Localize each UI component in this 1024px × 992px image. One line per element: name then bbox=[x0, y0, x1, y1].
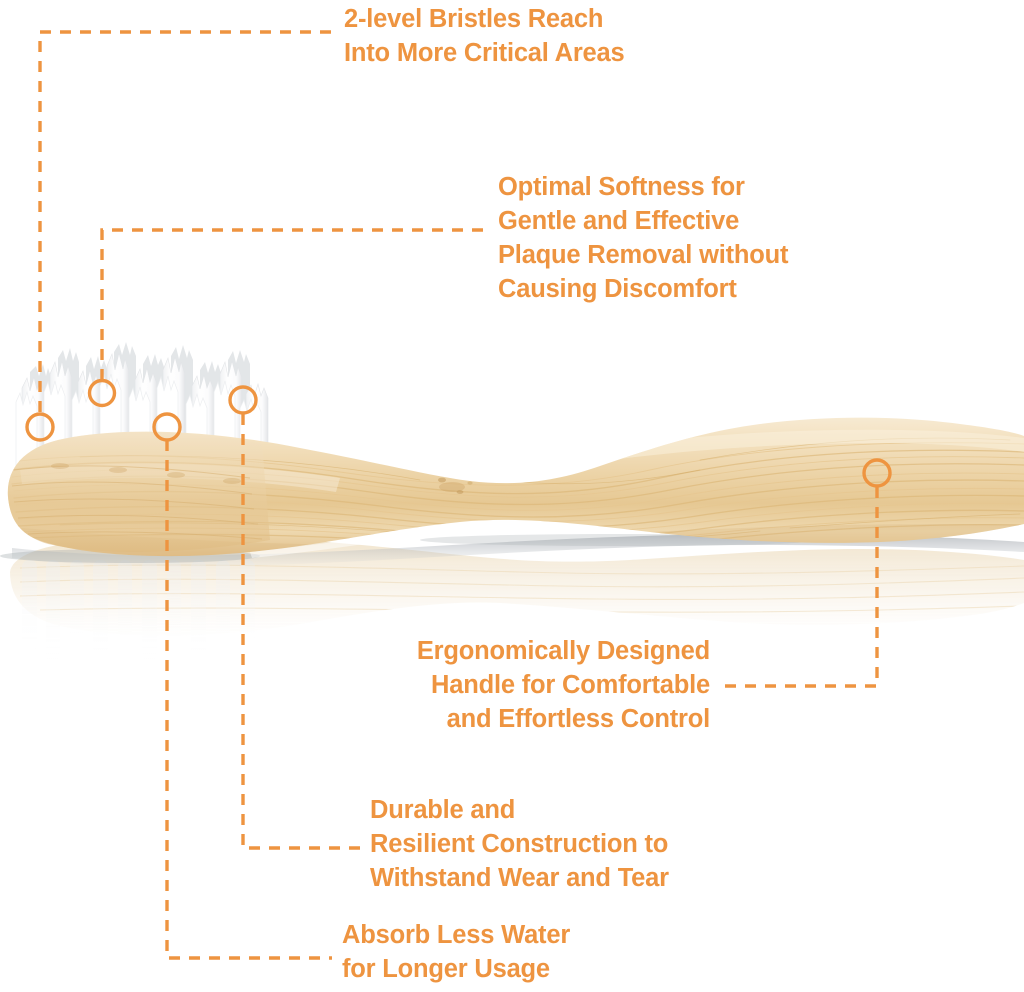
circle-marker-bristle-3[interactable] bbox=[154, 414, 180, 440]
leader-line-bristles bbox=[40, 32, 340, 412]
callout-label-bristles: 2-level Bristles Reach Into More Critica… bbox=[344, 2, 744, 70]
callout-label-ergonomic: Ergonomically Designed Handle for Comfor… bbox=[320, 634, 710, 736]
leader-line-durable bbox=[243, 414, 368, 848]
callout-label-absorb: Absorb Less Water for Longer Usage bbox=[342, 918, 702, 986]
leader-line-ergonomic bbox=[722, 487, 877, 686]
circle-marker-handle[interactable] bbox=[864, 460, 890, 486]
leader-line-softness bbox=[102, 230, 492, 380]
callout-label-softness: Optimal Softness for Gentle and Effectiv… bbox=[498, 170, 918, 306]
circle-marker-bristle-2[interactable] bbox=[90, 381, 115, 406]
circle-marker-bristle-1[interactable] bbox=[27, 414, 53, 440]
circle-marker-bristle-4[interactable] bbox=[230, 387, 256, 413]
callout-label-durable: Durable and Resilient Construction to Wi… bbox=[370, 793, 790, 895]
leader-line-absorb bbox=[167, 440, 332, 958]
infographic-canvas: 2-level Bristles Reach Into More Critica… bbox=[0, 0, 1024, 992]
